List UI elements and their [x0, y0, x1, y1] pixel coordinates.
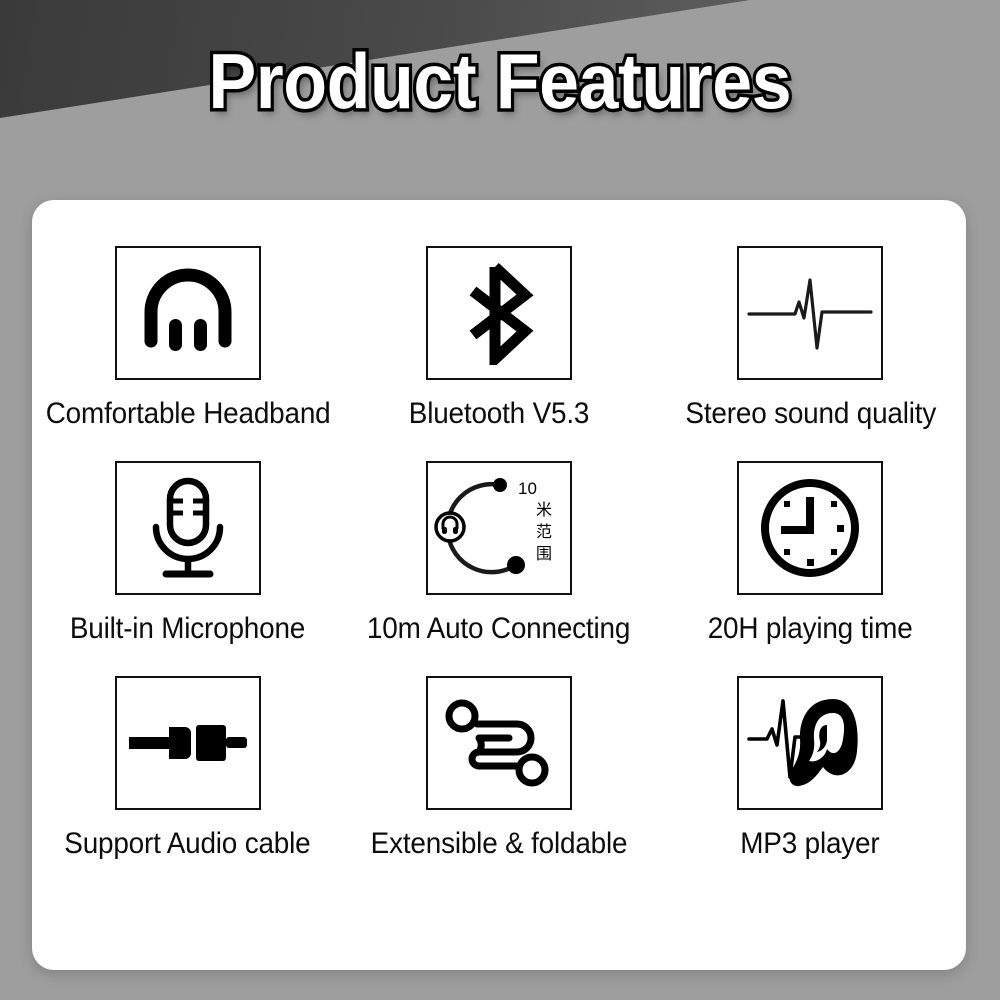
icon-box: [426, 676, 572, 810]
product-features-infographic: Product Features Comfortable Headband: [0, 0, 1000, 1000]
feature-label: Bluetooth V5.3: [409, 397, 589, 431]
feature-label: 10m Auto Connecting: [367, 612, 630, 646]
feature-label: Built-in Microphone: [70, 612, 305, 646]
bluetooth-icon: [451, 261, 547, 365]
headphones-icon: [133, 265, 243, 361]
icon-box: [737, 461, 883, 595]
feature-item-audio-cable[interactable]: Support Audio cable: [32, 676, 343, 891]
feature-item-microphone[interactable]: Built-in Microphone: [32, 461, 343, 676]
feature-label: Support Audio cable: [65, 827, 311, 861]
clock-icon: [757, 475, 863, 581]
icon-box: 10 米 范 围: [426, 461, 572, 595]
range-unit-char-3: 围: [536, 544, 552, 563]
feature-label: MP3 player: [741, 827, 880, 861]
audio-plug-icon: [127, 713, 249, 773]
icon-box: [115, 246, 261, 380]
features-grid: Comfortable Headband Bluetooth V5.3: [32, 246, 966, 891]
range-distance-text: 10: [518, 479, 537, 498]
feature-label: Extensible & foldable: [371, 827, 628, 861]
icon-box: [115, 461, 261, 595]
feature-label: Stereo sound quality: [685, 397, 936, 431]
sound-wave-icon: [747, 268, 873, 358]
feature-item-stereo[interactable]: Stereo sound quality: [655, 246, 966, 461]
page-title-container: Product Features: [0, 42, 1000, 120]
icon-box: [737, 246, 883, 380]
ear-listening-icon: [747, 691, 873, 795]
wireless-range-icon: 10 米 范 围: [432, 470, 566, 586]
page-title: Product Features: [209, 42, 792, 120]
range-unit-char-2: 范: [536, 522, 552, 541]
feature-label: 20H playing time: [708, 612, 913, 646]
foldable-path-icon: [445, 698, 553, 788]
features-card: Comfortable Headband Bluetooth V5.3: [32, 200, 966, 970]
feature-item-mp3[interactable]: MP3 player: [655, 676, 966, 891]
feature-item-bluetooth[interactable]: Bluetooth V5.3: [343, 246, 654, 461]
feature-label: Comfortable Headband: [45, 397, 330, 431]
range-unit-char-1: 米: [536, 500, 552, 519]
microphone-icon: [140, 475, 236, 581]
feature-item-headband[interactable]: Comfortable Headband: [32, 246, 343, 461]
feature-item-foldable[interactable]: Extensible & foldable: [343, 676, 654, 891]
icon-box: [426, 246, 572, 380]
feature-item-range[interactable]: 10 米 范 围 10m Auto Connecting: [343, 461, 654, 676]
icon-box: [115, 676, 261, 810]
feature-item-playtime[interactable]: 20H playing time: [655, 461, 966, 676]
icon-box: [737, 676, 883, 810]
